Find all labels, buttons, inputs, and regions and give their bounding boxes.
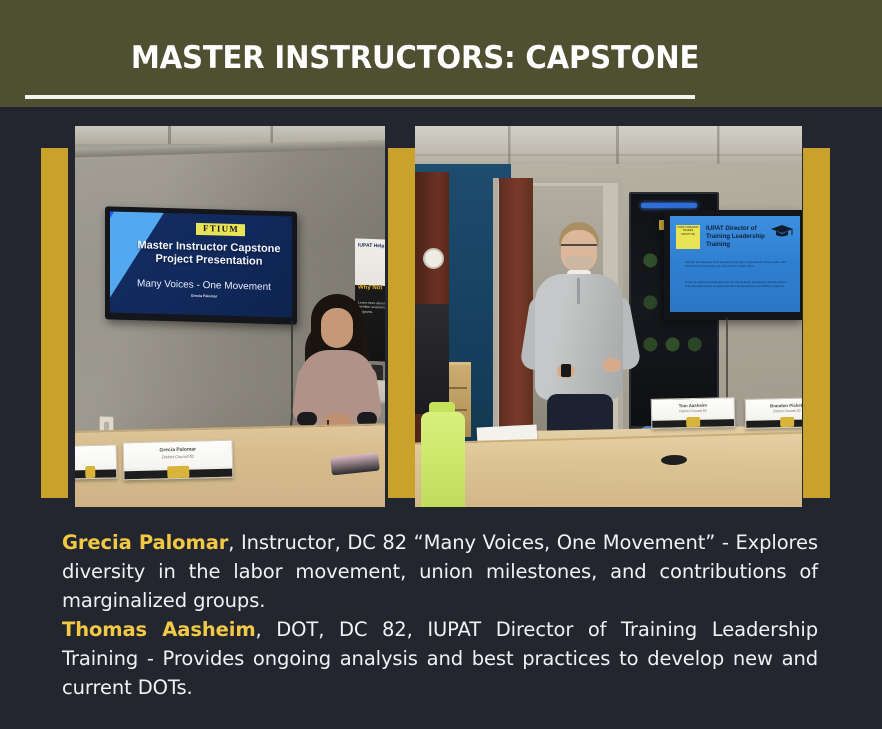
nameplate-footer-bar (652, 419, 734, 428)
photo-area: IUPAT Help Why Not Learn more about memb… (0, 107, 882, 512)
page-title: MASTER INSTRUCTORS: CAPSTONE (25, 40, 805, 76)
tv-slide-title: IUPAT Director of Training Leadership Tr… (706, 225, 772, 249)
hand-right (603, 358, 621, 372)
instructor-name-2: Thomas Aasheim (62, 618, 256, 641)
graduation-cap-icon (770, 224, 794, 238)
cuff-left (297, 412, 317, 426)
nameplate-card: Brandon Pickett District Council 82 (745, 397, 802, 429)
tv-slide-bullet-2: Foster a shared knowledge base for the d… (685, 280, 788, 288)
nameplate-footer-bar (75, 469, 116, 478)
wall-tv-right: IUPAT FINISHING TRADES INSTITUTE IUPAT D… (664, 210, 802, 320)
tv-screen-left: FTIUM Master Instructor Capstone Project… (110, 211, 292, 317)
foreground-table (415, 431, 802, 507)
wall-clock (423, 248, 444, 269)
poster-line-2: Why Not (358, 285, 382, 292)
photo-right: IUPAT FINISHING TRADES INSTITUTE IUPAT D… (415, 126, 802, 507)
nameplate-footer-bar (746, 419, 802, 428)
quarter-zip (577, 278, 580, 304)
cooler-led-strip (641, 203, 697, 208)
nameplate-card: Grecia Palomar District Council 82 (123, 440, 234, 481)
slide-root: MASTER INSTRUCTORS: CAPSTONE IUPAT Help … (0, 0, 882, 729)
nameplate-card (75, 444, 117, 479)
accent-bar-middle (388, 148, 415, 498)
presentation-clicker (561, 364, 571, 377)
accent-bar-right (803, 148, 830, 498)
photo-left: IUPAT Help Why Not Learn more about memb… (75, 126, 385, 507)
water-jug (421, 412, 465, 507)
tv-screen-right: IUPAT FINISHING TRADES INSTITUTE IUPAT D… (670, 216, 800, 312)
nameplate-subtitle: District Council 82 (652, 408, 734, 414)
face (321, 308, 353, 348)
tv-slide-presenter: Grecia Palomar (110, 291, 292, 301)
instructor-name-1: Grecia Palomar (62, 531, 228, 554)
dark-equipment (415, 304, 449, 414)
poster-line-1: IUPAT Help (358, 244, 384, 250)
tv-slide-subheading: Many Voices - One Movement (110, 277, 292, 293)
nameplate-footer-bar (124, 469, 232, 480)
title-divider-rule (25, 95, 695, 99)
tv-slide-bullet-1: Identify and discuss best practices and … (685, 260, 788, 268)
wall-tv-left: FTIUM Master Instructor Capstone Project… (105, 206, 297, 324)
tv-slide-heading: Master Instructor Capstone Project Prese… (110, 238, 292, 268)
glasses (561, 244, 597, 253)
nameplate-subtitle: District Council 82 (746, 408, 802, 414)
accent-bar-left (41, 148, 68, 498)
description-paragraph-2: Thomas Aasheim, DOT, DC 82, IUPAT Direct… (62, 615, 818, 702)
ftium-logo: FTIUM (196, 223, 245, 236)
description-paragraph-1: Grecia Palomar, Instructor, DC 82 “Many … (62, 528, 818, 615)
description-text-block: Grecia Palomar, Instructor, DC 82 “Many … (62, 528, 818, 702)
nameplate-card: Tom Aasheim District Council 82 (651, 397, 736, 429)
ftium-badge-text: IUPAT FINISHING TRADES INSTITUTE (677, 226, 699, 236)
